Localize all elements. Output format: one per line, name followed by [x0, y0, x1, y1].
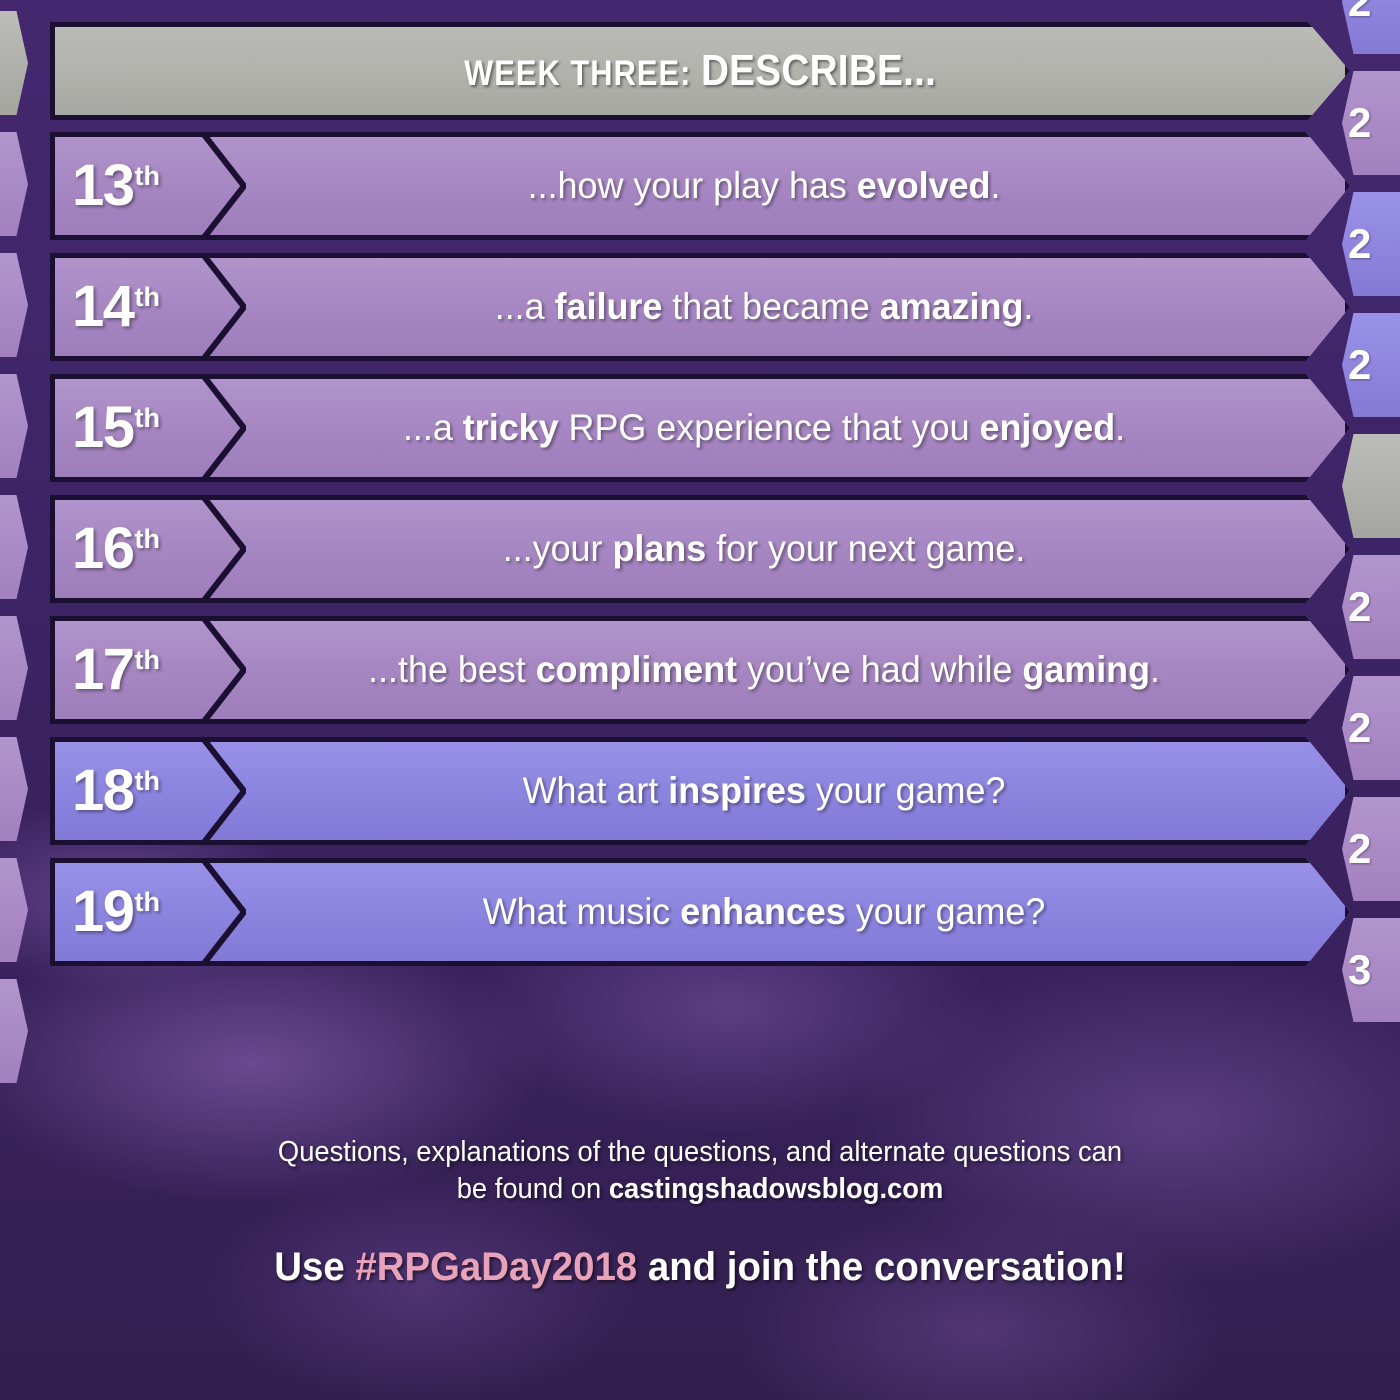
cta-suffix: and join the conversation!	[637, 1245, 1126, 1289]
week-theme: DESCRIBE...	[701, 46, 936, 95]
prompt-emphasis: enhances	[680, 891, 846, 932]
side-hex-cell: 2	[1342, 676, 1400, 780]
side-hex-label: 2	[1348, 341, 1370, 389]
prompt-emphasis: compliment	[536, 649, 737, 690]
prompt-plain: that became	[662, 286, 879, 327]
day-number: 18th	[72, 762, 160, 820]
side-hex-cell	[0, 495, 28, 599]
day-number: 17th	[72, 641, 160, 699]
side-hex-cell: 2	[1342, 71, 1400, 175]
cta-prefix: Use	[274, 1245, 355, 1289]
prompt-text: ...a failure that became amazing.	[263, 286, 1334, 328]
side-hex-cell	[0, 737, 28, 841]
side-hex-cell: 2	[1342, 192, 1400, 296]
prompt-emphasis: inspires	[668, 770, 806, 811]
side-hex-label: 2	[1348, 583, 1370, 631]
day-badge: 15th	[50, 374, 246, 482]
side-hex-cell	[0, 374, 28, 478]
prompt-text: ...your plans for your next game.	[263, 528, 1334, 570]
day-suffix: th	[135, 282, 160, 312]
prompt-text: What music enhances your game?	[263, 891, 1334, 933]
prompt-plain: ...a	[495, 286, 555, 327]
prompt-plain: RPG experience that you	[559, 407, 980, 448]
prompt-plain: ...the best	[368, 649, 536, 690]
side-hex-cell: 3	[1342, 918, 1400, 1022]
left-hex-strip	[0, 0, 42, 1080]
side-hex-cell: 2	[1342, 0, 1400, 54]
day-row[interactable]: 16th...your plans for your next game.	[50, 495, 1350, 603]
prompt-emphasis: enjoyed	[980, 407, 1116, 448]
hashtag-rpgaday2018[interactable]: #RPGaDay2018	[355, 1245, 637, 1289]
day-row[interactable]: 13th...how your play has evolved.	[50, 132, 1350, 240]
day-badge: 14th	[50, 253, 246, 361]
prompt-emphasis: failure	[555, 286, 663, 327]
prompt-emphasis: plans	[612, 528, 706, 569]
day-number: 19th	[72, 883, 160, 941]
side-hex-cell	[0, 616, 28, 720]
side-hex-label: 2	[1348, 0, 1370, 26]
day-number: 15th	[72, 399, 160, 457]
day-number: 16th	[72, 520, 160, 578]
side-hex-cell: 2	[1342, 555, 1400, 659]
prompt-plain: ...a	[403, 407, 463, 448]
week-header-text: WEEK THREE: DESCRIBE...	[464, 46, 936, 96]
day-suffix: th	[135, 766, 160, 796]
day-suffix: th	[135, 887, 160, 917]
rpgaday-week-three-poster: 22222223 WEEK THREE: DESCRIBE... 13th...…	[0, 0, 1400, 1400]
prompt-plain: .	[990, 165, 1000, 206]
day-suffix: th	[135, 403, 160, 433]
prompt-text: ...a tricky RPG experience that you enjo…	[263, 407, 1334, 449]
blog-url[interactable]: castingshadowsblog.com	[609, 1173, 943, 1205]
prompt-emphasis: evolved	[857, 165, 991, 206]
prompt-text: What art inspires your game?	[263, 770, 1334, 812]
side-hex-cell	[0, 11, 28, 115]
badge-chevron-icon	[200, 132, 246, 240]
prompt-plain: for your next game.	[706, 528, 1025, 569]
side-hex-cell	[1342, 434, 1400, 538]
day-row[interactable]: 17th...the best compliment you’ve had wh…	[50, 616, 1350, 724]
footer-note-prefix: be found on	[457, 1173, 609, 1205]
prompt-plain: ...how your play has	[528, 165, 857, 206]
footer-block: Questions, explanations of the questions…	[0, 1134, 1400, 1400]
prompt-plain: What art	[523, 770, 669, 811]
week-header-banner: WEEK THREE: DESCRIBE...	[50, 22, 1350, 120]
day-number: 13th	[72, 157, 160, 215]
prompt-emphasis: amazing	[880, 286, 1024, 327]
side-hex-cell: 2	[1342, 313, 1400, 417]
day-badge: 16th	[50, 495, 246, 603]
day-badge: 18th	[50, 737, 246, 845]
footer-note-line1: Questions, explanations of the questions…	[114, 1134, 1285, 1172]
prompt-emphasis: tricky	[463, 407, 559, 448]
day-badge: 17th	[50, 616, 246, 724]
side-hex-cell: 2	[1342, 797, 1400, 901]
side-hex-label: 2	[1348, 220, 1370, 268]
main-content: WEEK THREE: DESCRIBE... 13th...how your …	[50, 0, 1350, 979]
day-number: 14th	[72, 278, 160, 336]
footer-cta: Use #RPGaDay2018 and join the conversati…	[114, 1245, 1285, 1290]
day-badge: 13th	[50, 132, 246, 240]
prompt-plain: .	[1115, 407, 1125, 448]
prompt-text: ...how your play has evolved.	[263, 165, 1334, 207]
badge-chevron-icon	[200, 253, 246, 361]
day-row[interactable]: 15th...a tricky RPG experience that you …	[50, 374, 1350, 482]
day-row[interactable]: 14th...a failure that became amazing.	[50, 253, 1350, 361]
prompt-plain: .	[1023, 286, 1033, 327]
badge-chevron-icon	[200, 374, 246, 482]
day-row[interactable]: 19thWhat music enhances your game?	[50, 858, 1350, 966]
day-suffix: th	[135, 645, 160, 675]
side-hex-cell	[0, 858, 28, 962]
prompt-plain: your game?	[846, 891, 1046, 932]
day-row[interactable]: 18thWhat art inspires your game?	[50, 737, 1350, 845]
badge-chevron-icon	[200, 737, 246, 845]
prompt-emphasis: gaming	[1022, 649, 1150, 690]
badge-chevron-icon	[200, 858, 246, 966]
prompt-plain: What music	[483, 891, 680, 932]
side-hex-cell	[0, 253, 28, 357]
side-hex-cell	[0, 132, 28, 236]
side-hex-label: 2	[1348, 99, 1370, 147]
badge-chevron-icon	[200, 495, 246, 603]
prompt-plain: you’ve had while	[737, 649, 1022, 690]
prompt-plain: .	[1150, 649, 1160, 690]
footer-note-line2: be found on castingshadowsblog.com	[114, 1171, 1285, 1209]
day-rows-list: 13th...how your play has evolved.14th...…	[50, 132, 1350, 966]
right-hex-strip: 22222223	[1342, 0, 1400, 1080]
footer-note: Questions, explanations of the questions…	[114, 1134, 1285, 1209]
prompt-plain: your game?	[806, 770, 1006, 811]
side-hex-label: 2	[1348, 825, 1370, 873]
day-suffix: th	[135, 161, 160, 191]
side-hex-label: 3	[1348, 946, 1370, 994]
side-hex-cell	[0, 979, 28, 1083]
prompt-text: ...the best compliment you’ve had while …	[263, 649, 1334, 691]
day-badge: 19th	[50, 858, 246, 966]
prompt-plain: ...your	[503, 528, 613, 569]
week-label: WEEK THREE:	[464, 54, 691, 93]
side-hex-label: 2	[1348, 704, 1370, 752]
day-suffix: th	[135, 524, 160, 554]
badge-chevron-icon	[200, 616, 246, 724]
